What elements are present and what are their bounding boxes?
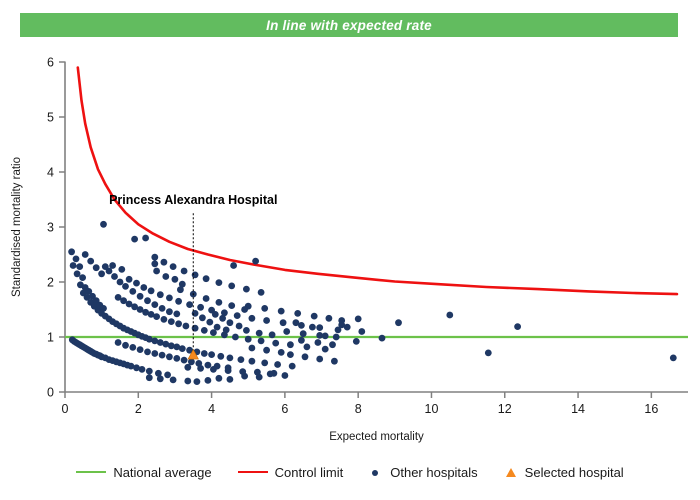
- data-point: [192, 310, 199, 317]
- data-point: [272, 340, 279, 347]
- chart-canvas: 01234560246810121416Expected mortalitySt…: [0, 40, 700, 455]
- data-point: [126, 276, 133, 283]
- y-axis-tick-label: 1: [47, 331, 54, 345]
- data-point: [82, 251, 89, 258]
- data-point: [166, 353, 173, 360]
- data-point: [287, 351, 294, 358]
- data-point: [232, 334, 239, 341]
- data-point: [326, 315, 333, 322]
- legend-selected-hospital[interactable]: Selected hospital: [504, 465, 624, 480]
- legend-other-hospitals[interactable]: Other hospitals: [369, 465, 477, 480]
- data-point: [225, 364, 232, 371]
- data-point: [197, 304, 204, 311]
- data-point: [173, 311, 180, 318]
- data-point: [188, 358, 195, 365]
- annotation-label: Princess Alexandra Hospital: [109, 193, 277, 207]
- data-point: [249, 345, 256, 352]
- chart-legend: National averageControl limitOther hospi…: [0, 452, 700, 492]
- data-point: [271, 370, 278, 377]
- data-point: [217, 353, 224, 360]
- data-point: [195, 360, 202, 367]
- data-point: [294, 310, 301, 317]
- data-point: [302, 353, 309, 360]
- data-point: [87, 258, 94, 265]
- data-point: [258, 289, 265, 296]
- data-point: [148, 287, 155, 294]
- data-point: [179, 345, 186, 352]
- data-point: [129, 344, 136, 351]
- data-point: [70, 262, 77, 269]
- data-point: [216, 375, 223, 382]
- data-point: [293, 319, 300, 326]
- data-point: [227, 355, 234, 362]
- x-axis-tick-label: 10: [425, 402, 439, 416]
- data-point: [298, 337, 305, 344]
- data-point: [117, 279, 124, 286]
- data-point: [201, 350, 208, 357]
- legend-item-label: Selected hospital: [525, 465, 624, 480]
- data-point: [73, 256, 80, 263]
- data-point: [153, 268, 160, 275]
- data-point: [118, 266, 125, 273]
- data-point: [214, 363, 221, 370]
- data-point: [74, 270, 81, 277]
- data-point: [203, 275, 210, 282]
- data-point: [111, 273, 118, 280]
- legend-item-label: National average: [113, 465, 211, 480]
- data-point: [243, 327, 250, 334]
- data-point: [344, 324, 351, 331]
- data-point: [216, 299, 223, 306]
- data-point: [311, 313, 318, 320]
- data-point: [278, 308, 285, 315]
- x-axis-tick-label: 12: [498, 402, 512, 416]
- data-point: [379, 335, 386, 342]
- control-limit-curve: [78, 68, 677, 295]
- y-axis-tick-label: 5: [47, 111, 54, 125]
- status-banner: In line with expected rate: [20, 13, 678, 37]
- data-point: [142, 235, 149, 242]
- data-point: [670, 355, 677, 362]
- data-point: [139, 366, 146, 373]
- data-point: [287, 341, 294, 348]
- data-point: [192, 325, 199, 332]
- legend-dot-icon: [369, 466, 383, 478]
- data-point: [192, 272, 199, 279]
- data-point: [214, 324, 221, 331]
- legend-triangle-icon: [504, 466, 518, 478]
- x-axis-tick-label: 6: [281, 402, 288, 416]
- data-point: [239, 368, 246, 375]
- data-point: [223, 327, 230, 334]
- legend-control-limit[interactable]: Control limit: [238, 465, 344, 480]
- data-point: [316, 324, 323, 331]
- y-axis-tick-label: 3: [47, 221, 54, 235]
- data-point: [274, 361, 281, 368]
- data-point: [181, 357, 188, 364]
- data-point: [203, 295, 210, 302]
- data-point: [153, 313, 160, 320]
- data-point: [249, 315, 256, 322]
- data-point: [238, 356, 245, 363]
- data-point: [166, 295, 173, 302]
- data-point: [181, 268, 188, 275]
- data-point: [289, 363, 296, 370]
- data-point: [252, 258, 259, 265]
- x-axis-tick-label: 0: [62, 402, 69, 416]
- data-point: [161, 316, 168, 323]
- data-point: [300, 330, 307, 337]
- data-point: [358, 328, 365, 335]
- data-point: [184, 378, 191, 385]
- data-point: [331, 358, 338, 365]
- data-point: [329, 341, 336, 348]
- x-axis-title: Expected mortality: [329, 431, 424, 443]
- data-point: [258, 338, 265, 345]
- data-point: [199, 314, 206, 321]
- data-point: [245, 336, 252, 343]
- data-point: [304, 344, 311, 351]
- data-point: [175, 320, 182, 327]
- data-point: [216, 279, 223, 286]
- data-point: [144, 349, 151, 356]
- data-point: [166, 308, 173, 315]
- data-point: [228, 302, 235, 309]
- data-point: [316, 356, 323, 363]
- data-point: [315, 339, 322, 346]
- data-point: [183, 323, 190, 330]
- data-point: [212, 311, 219, 318]
- legend-line-icon: [238, 466, 268, 478]
- data-point: [100, 221, 107, 228]
- data-point: [170, 377, 177, 384]
- data-point: [146, 368, 153, 375]
- data-point: [322, 346, 329, 353]
- data-point: [228, 283, 235, 290]
- data-point: [76, 263, 83, 270]
- data-point: [131, 236, 138, 243]
- data-point: [333, 334, 340, 341]
- data-point: [133, 280, 140, 287]
- data-point: [249, 358, 256, 365]
- data-point: [263, 347, 270, 354]
- data-point: [122, 283, 129, 290]
- data-point: [283, 328, 290, 335]
- data-point: [115, 339, 122, 346]
- data-point: [206, 319, 213, 326]
- legend-national-average[interactable]: National average: [76, 465, 211, 480]
- x-axis-tick-label: 14: [571, 402, 585, 416]
- y-axis-tick-label: 6: [47, 56, 54, 70]
- data-point: [514, 323, 521, 330]
- y-axis-tick-label: 0: [47, 386, 54, 400]
- data-point: [93, 264, 100, 271]
- data-point: [208, 351, 215, 358]
- data-point: [151, 260, 158, 267]
- data-point: [175, 298, 182, 305]
- data-point: [170, 263, 177, 270]
- data-point: [173, 355, 180, 362]
- data-point: [68, 248, 75, 255]
- data-point: [234, 312, 241, 319]
- data-point: [201, 327, 208, 334]
- data-point: [278, 349, 285, 356]
- data-point: [485, 350, 492, 357]
- data-point: [194, 378, 201, 385]
- legend-item-label: Control limit: [275, 465, 344, 480]
- y-axis-tick-label: 4: [47, 166, 54, 180]
- y-axis-title: Standardised mortality ratio: [11, 157, 23, 297]
- data-point: [243, 286, 250, 293]
- data-point: [263, 317, 270, 324]
- data-point: [282, 372, 289, 379]
- y-axis-tick-label: 2: [47, 276, 54, 290]
- data-point: [395, 319, 402, 326]
- data-point: [205, 377, 212, 384]
- x-axis-tick-label: 4: [208, 402, 215, 416]
- data-point: [186, 301, 193, 308]
- data-point: [122, 342, 129, 349]
- data-point: [161, 259, 168, 266]
- data-point: [177, 286, 184, 293]
- data-point: [309, 324, 316, 331]
- data-point: [254, 369, 261, 376]
- data-point: [144, 297, 151, 304]
- data-point: [261, 360, 268, 367]
- x-axis-tick-label: 8: [355, 402, 362, 416]
- data-point: [227, 319, 234, 326]
- data-point: [205, 362, 212, 369]
- data-point: [230, 262, 237, 269]
- data-point: [162, 273, 169, 280]
- data-point: [159, 305, 166, 312]
- data-point: [219, 315, 226, 322]
- data-point: [446, 312, 453, 319]
- data-point: [140, 284, 147, 291]
- other-hospitals-points: [68, 221, 676, 385]
- data-point: [269, 331, 276, 338]
- data-point: [137, 346, 144, 353]
- data-point: [137, 293, 144, 300]
- data-point: [164, 372, 171, 379]
- data-point: [102, 263, 109, 270]
- legend-item-label: Other hospitals: [390, 465, 477, 480]
- data-point: [355, 316, 362, 323]
- data-point: [168, 318, 175, 325]
- data-point: [79, 274, 86, 281]
- data-point: [227, 376, 234, 383]
- data-point: [151, 350, 158, 357]
- data-point: [151, 301, 158, 308]
- legend-line-icon: [76, 466, 106, 478]
- data-point: [261, 305, 268, 312]
- data-point: [98, 270, 105, 277]
- data-point: [256, 330, 263, 337]
- data-point: [157, 375, 164, 382]
- data-point: [172, 276, 179, 283]
- data-point: [157, 291, 164, 298]
- data-point: [241, 306, 248, 313]
- data-point: [151, 254, 158, 261]
- data-point: [100, 305, 107, 312]
- x-axis-tick-label: 2: [135, 402, 142, 416]
- data-point: [159, 352, 166, 359]
- funnel-plot: 01234560246810121416Expected mortalitySt…: [0, 40, 700, 455]
- x-axis-tick-label: 16: [644, 402, 658, 416]
- data-point: [353, 338, 360, 345]
- data-point: [129, 288, 136, 295]
- status-banner-label: In line with expected rate: [266, 18, 432, 33]
- data-point: [236, 323, 243, 330]
- data-point: [280, 319, 287, 326]
- data-point: [146, 374, 153, 381]
- data-point: [322, 333, 329, 340]
